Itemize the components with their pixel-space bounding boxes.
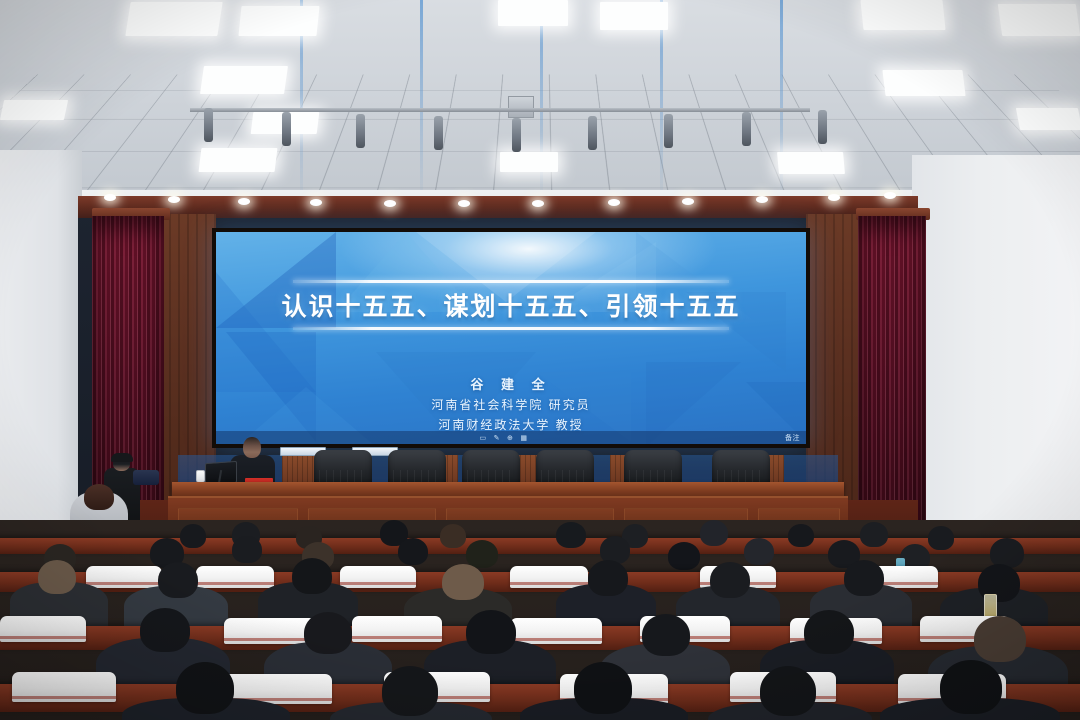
slide-subtitle-block: 谷 建 全 河南省社会科学院 研究员 河南财经政法大学 教授: [216, 374, 806, 433]
audience-head: [642, 614, 690, 656]
recessed-downlight: [384, 200, 396, 207]
photographer-cap: [111, 453, 133, 462]
track-light: [282, 112, 291, 146]
recessed-downlight: [458, 200, 470, 207]
recessed-downlight: [310, 199, 322, 206]
conference-hall-photo: 认识十五五、谋划十五五、引领十五五 谷 建 全 河南省社会科学院 研究员 河南财…: [0, 0, 1080, 720]
seat-headrest: [196, 566, 274, 588]
ceiling-light-panel: [199, 148, 278, 172]
track-light: [356, 114, 365, 148]
ceiling-light-panel: [600, 2, 668, 30]
audience-head: [440, 524, 466, 548]
audience-head: [556, 522, 586, 548]
audience-head: [668, 542, 700, 570]
audience-head: [928, 526, 954, 550]
ceiling-light-panel: [238, 6, 319, 36]
track-light: [588, 116, 597, 150]
recessed-downlight: [238, 198, 250, 205]
ceiling-light-panel: [882, 70, 965, 96]
audience-head: [292, 558, 332, 594]
audience-head: [466, 540, 498, 568]
audience-head: [588, 560, 628, 596]
seat-headrest: [510, 618, 602, 644]
seat-headrest: [510, 566, 588, 588]
audience-head: [232, 536, 262, 563]
standing-person-hair: [84, 484, 114, 510]
ceiling-light-panel: [1016, 108, 1080, 130]
ceiling-light-panel: [0, 100, 68, 120]
slide-speaker-name: 谷 建 全: [216, 374, 806, 393]
ceiling-light-panel: [200, 66, 288, 94]
projection-screen[interactable]: 认识十五五、谋划十五五、引领十五五 谷 建 全 河南省社会科学院 研究员 河南财…: [216, 232, 806, 444]
ceiling-light-panel: [498, 0, 568, 26]
pointer-icon[interactable]: ✎: [494, 434, 500, 442]
audience-head: [700, 520, 728, 546]
slide-title: 认识十五五、谋划十五五、引领十五五: [216, 287, 806, 323]
speaker-head: [243, 437, 261, 458]
audience-head: [466, 610, 516, 654]
recessed-downlight: [756, 196, 768, 203]
track-light: [434, 116, 443, 150]
display-icon[interactable]: ▦: [520, 434, 527, 442]
audience-head: [760, 666, 816, 716]
stage-curtain-right: [858, 216, 926, 546]
track-light: [818, 110, 827, 144]
audience-head: [974, 616, 1026, 662]
seat-headrest: [352, 616, 442, 642]
audience-head: [140, 608, 190, 652]
taskbar-center-icons[interactable]: ▭ ✎ ⊕ ▦: [480, 434, 528, 442]
seat-headrest: [0, 616, 86, 642]
ceiling-light-panel: [125, 2, 222, 36]
seat-headrest: [86, 566, 162, 588]
recessed-downlight: [168, 196, 180, 203]
track-light: [664, 114, 673, 148]
audience-head: [158, 562, 198, 598]
ceiling-light-panel: [998, 4, 1080, 36]
ceiling-light-panel: [777, 152, 845, 174]
audience-head: [710, 562, 750, 598]
audience-head: [382, 666, 438, 716]
settings-icon[interactable]: ⊕: [507, 434, 513, 442]
recessed-downlight: [828, 194, 840, 201]
recessed-downlight: [682, 198, 694, 205]
recessed-downlight: [884, 192, 896, 199]
track-light: [512, 118, 521, 152]
audience-head: [398, 538, 428, 565]
audience-head: [574, 662, 632, 714]
seat-headrest: [12, 672, 116, 702]
audience-head: [860, 522, 888, 547]
slide-icon[interactable]: ▭: [480, 434, 487, 442]
track-light: [742, 112, 751, 146]
audience-head: [940, 660, 1002, 714]
track-light: [204, 108, 213, 142]
audience-head: [744, 538, 774, 565]
title-rule-top: [293, 280, 730, 283]
presentation-taskbar[interactable]: ▭ ✎ ⊕ ▦ 备注: [216, 431, 806, 444]
audience-area: [0, 520, 1080, 720]
audience-head: [788, 524, 814, 547]
title-rule-bottom: [293, 327, 730, 330]
projection-screen-frame: 认识十五五、谋划十五五、引领十五五 谷 建 全 河南省社会科学院 研究员 河南财…: [212, 228, 810, 448]
taskbar-notes-label[interactable]: 备注: [785, 433, 800, 443]
recessed-downlight: [104, 194, 116, 201]
seat-headrest: [224, 618, 316, 644]
recessed-downlight: [608, 199, 620, 206]
audience-head: [844, 560, 884, 596]
left-wall: [0, 150, 82, 570]
audience-head: [442, 564, 484, 600]
audience-head: [38, 560, 76, 594]
audience-head: [176, 662, 234, 714]
camera: [133, 470, 159, 485]
ceiling-light-panel: [860, 0, 945, 30]
seat-headrest: [340, 566, 416, 588]
recessed-downlight: [532, 200, 544, 207]
audience-head: [180, 524, 206, 548]
audience-head: [804, 610, 854, 654]
audience-head: [304, 612, 352, 654]
ceiling-light-panel: [500, 152, 558, 172]
ceiling-projector-mount: [508, 96, 534, 118]
slide-affiliation-1: 河南省社会科学院 研究员: [216, 396, 806, 413]
